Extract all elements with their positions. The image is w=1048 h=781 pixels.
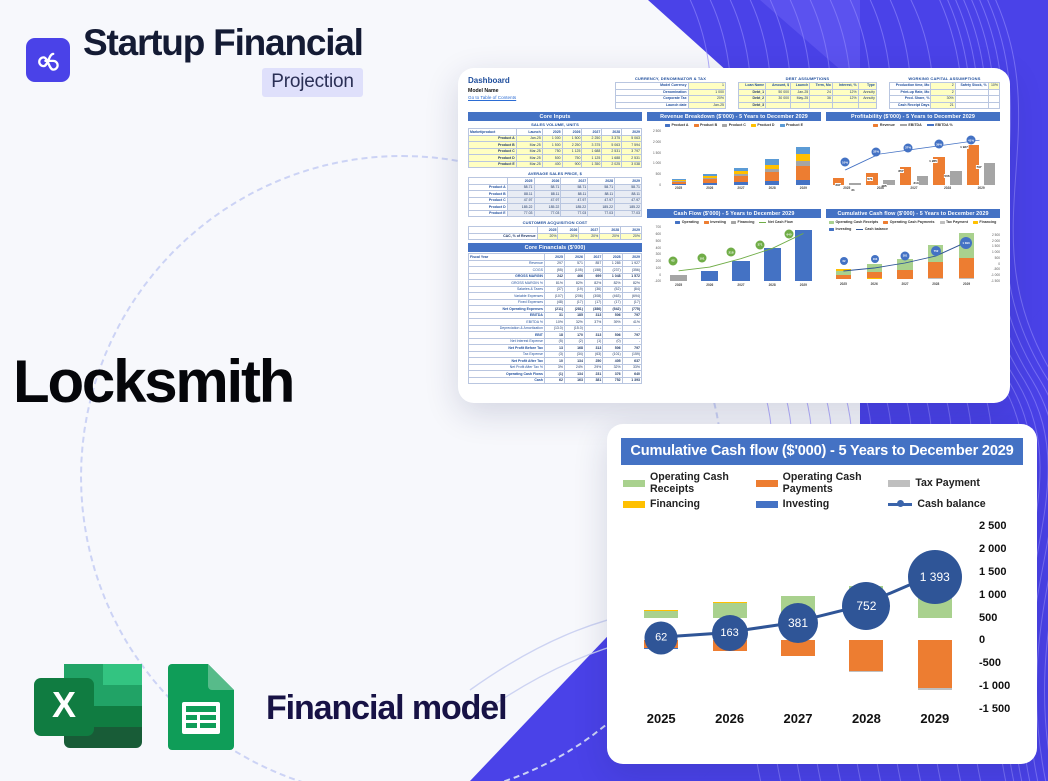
legend-item-tax-payment[interactable]: Tax Payment: [888, 471, 1021, 495]
google-sheets-icon: [164, 660, 238, 757]
y-tick-label: -1 500: [979, 703, 1010, 715]
row-label: Cash: [469, 377, 545, 384]
sales-volume-table: Market/product Launch 2025 2026 2027 202…: [468, 128, 642, 168]
cell: 77.03: [588, 210, 615, 217]
legend-line-marker: [888, 503, 912, 506]
cumulative-cash-flow-card[interactable]: Cumulative Cash flow ($'000) - 5 Years t…: [607, 424, 1037, 764]
cell: Launch date: [615, 102, 688, 109]
data-point: 62: [840, 257, 848, 265]
data-point: 37%: [904, 143, 913, 152]
x-axis: 2025 2026 2027 2028 2029: [663, 186, 819, 195]
data-point-label: 381: [778, 603, 818, 643]
cell: 2 025: [602, 161, 622, 168]
bar: [734, 129, 748, 185]
legend-item: Product B: [694, 123, 718, 127]
y-tick-label: 0: [979, 634, 985, 646]
microsoft-excel-icon: X: [30, 660, 146, 757]
legend-item: Investing: [829, 227, 851, 231]
dashboard-column-charts-2: Profitability ($'000) - 5 Years to Decem…: [826, 112, 1000, 384]
legend-item-operating-cash-receipts[interactable]: Operating Cash Receipts: [623, 471, 756, 495]
legend-swatch: [888, 480, 910, 487]
debt-panel-table: Loan Name Amount, $ Launch Term, Mo Inte…: [738, 82, 877, 109]
chart-legend: Operating Cash Receipts Operating Cash P…: [621, 471, 1023, 510]
data-point: 41%: [967, 136, 976, 145]
cac-title: CUSTOMER ACQUISITION COST: [468, 219, 642, 226]
dashboard-title: Dashboard: [468, 76, 607, 86]
cell: Product E: [469, 210, 508, 217]
legend-item: Operating Cash Payments: [883, 220, 934, 224]
avg-price-title: AVERAGE SALES PRICE, $: [468, 170, 642, 177]
data-point-label: 1 393: [908, 550, 962, 604]
cumulative-mini-title: Cumulative Cash flow ($'000) - 5 Years t…: [826, 209, 1000, 218]
core-inputs-bar: Core Inputs: [468, 112, 642, 121]
cell: 900: [562, 161, 582, 168]
data-point: 62: [669, 256, 678, 265]
bar-label: 1 285: [929, 159, 938, 163]
data-point: 39%: [935, 140, 944, 149]
data-point-label: 62: [645, 621, 678, 654]
cell: 20%: [537, 233, 558, 240]
cell: 77.03: [615, 210, 642, 217]
legend-item: Cash balance: [856, 227, 888, 231]
legend-item: Product E: [780, 123, 803, 127]
cell: [810, 102, 833, 109]
cell: 752: [603, 377, 622, 384]
y-axis: 700 600 500 400 300 200 100 0 -100: [647, 226, 662, 282]
legend-item: Operating Cash Receipts: [829, 220, 878, 224]
cell: Mar-25: [516, 161, 542, 168]
x-tick-label: 2026: [695, 711, 763, 731]
cash-flow-chart: Operating Investing Financing Net Cash F…: [647, 218, 821, 306]
brand-lockup: Startup Financial Projection: [26, 24, 363, 97]
bar-label: 857: [898, 169, 904, 173]
legend-item-financing[interactable]: Financing: [623, 498, 756, 510]
cell: 21: [931, 102, 955, 109]
data-point: 218: [727, 248, 736, 257]
infinity-logo-icon: [26, 38, 70, 82]
x-axis: 2025 2026 2027 2028 2029: [663, 283, 819, 292]
cash-flow-title: Cash Flow ($'000) - 5 Years to December …: [647, 209, 821, 218]
table-row: Cash621633817521 393: [469, 377, 642, 384]
cell: [832, 102, 858, 109]
bar: [796, 129, 810, 185]
legend-item: Investing: [704, 220, 726, 224]
cell: 20%: [558, 233, 579, 240]
footer-label: Financial model: [266, 689, 506, 728]
chart-plot-area: 2 5002 0001 5001 0005000-500-1 000-1 500…: [621, 526, 1023, 731]
cell: 381: [584, 377, 602, 384]
cell: Jan-25: [688, 102, 725, 109]
cell: 77.03: [534, 210, 561, 217]
page-title: Locksmith: [13, 352, 293, 412]
y-axis: 2 500 2 000 1 500 1 000 500 0 -500 -1 00…: [984, 233, 1000, 281]
data-point: 1 393: [960, 237, 972, 249]
legend-swatch: [756, 501, 778, 508]
cell: 20%: [579, 233, 600, 240]
bar: [703, 129, 717, 185]
legend-item: EBITDA: [900, 123, 922, 127]
dashboard-column-charts-1: Revenue Breakdown ($'000) - 5 Years to D…: [647, 112, 821, 384]
legend-item-operating-cash-payments[interactable]: Operating Cash Payments: [756, 471, 889, 495]
cell: Safety Stock, %: [955, 83, 988, 90]
excel-dashboard: Dashboard Model Name Go to Table of Cont…: [458, 68, 1010, 403]
brand-title: Startup Financial: [83, 24, 363, 62]
legend-swatch: [756, 480, 778, 487]
data-point: 101: [698, 254, 707, 263]
cell: Product E: [469, 161, 517, 168]
revenue-breakdown-chart: Product A Product B Product C Product D …: [647, 121, 821, 209]
y-tick-label: 2 000: [979, 543, 1007, 555]
legend-item: Product A: [665, 123, 689, 127]
y-tick-label: 1 500: [979, 566, 1007, 578]
cell: 1 350: [582, 161, 602, 168]
legend-item: Net Cash Flow: [759, 220, 792, 224]
cell: 163: [564, 377, 584, 384]
legend-item-investing[interactable]: Investing: [756, 498, 889, 510]
y-tick-label: 500: [979, 612, 997, 624]
model-name-label: Model Name: [468, 88, 607, 94]
data-point-label: 163: [712, 615, 748, 651]
footer-formats: X Financial model: [30, 660, 506, 757]
profitability-title: Profitability ($'000) - 5 Years to Decem…: [826, 112, 1000, 121]
bar: [765, 129, 779, 185]
x-tick-label: 2025: [627, 711, 695, 731]
cell: 20%: [621, 233, 642, 240]
toc-link[interactable]: Go to Table of Contents: [468, 95, 607, 100]
data-point: 32%: [872, 147, 881, 156]
cell: 400: [542, 161, 562, 168]
bar-label: 797: [976, 165, 982, 169]
cell: Cash Receipt Days: [889, 102, 931, 109]
bar-label: 571: [867, 177, 873, 181]
cell: [791, 102, 810, 109]
core-financials-bar: Core Financials ($'000): [468, 243, 642, 252]
data-point: 640: [785, 230, 794, 239]
avg-price-table: 2025 2026 2027 2028 2029 Product A58.715…: [468, 177, 642, 217]
cell: 62: [544, 377, 564, 384]
y-axis: 2 5002 0001 5001 0005000-500-1 000-1 500: [971, 526, 1023, 709]
bar-label: 506: [944, 174, 950, 178]
chart-title: Cumulative Cash flow ($'000) - 5 Years t…: [621, 438, 1023, 465]
y-tick-label: 2 500: [979, 520, 1007, 532]
poster-canvas: Startup Financial Projection Locksmith X: [0, 0, 1048, 781]
x-axis: 20252026202720282029: [627, 711, 969, 731]
bar-label: 1 927: [960, 145, 969, 149]
cell: CAC, % of Revenue: [469, 233, 538, 240]
legend-swatch: [623, 480, 645, 487]
y-tick-label: -1 000: [979, 680, 1010, 692]
bar-group: [663, 129, 819, 185]
data-point: 381: [901, 252, 910, 261]
x-axis: 2025 2026 2027 2028 2029: [830, 186, 998, 195]
legend-item: Financing: [731, 220, 754, 224]
cell: Production time, Mo: [889, 83, 931, 90]
brand-subtitle: Projection: [262, 68, 363, 97]
y-axis: 2 500 2 000 1 500 1 000 500 0: [647, 129, 662, 185]
cell: 20%: [600, 233, 621, 240]
revenue-breakdown-title: Revenue Breakdown ($'000) - 5 Years to D…: [647, 112, 821, 121]
legend-item: Tax Payment: [940, 220, 968, 224]
dashboard-column-inputs: Core Inputs SALES VOLUME, UNITS Market/p…: [468, 112, 642, 384]
cell: [858, 102, 876, 109]
bar-label: 313: [913, 181, 919, 185]
cell: 77.03: [561, 210, 588, 217]
net-cash-flow-line: [663, 226, 819, 282]
data-point: 163: [871, 255, 879, 263]
bar: [672, 129, 686, 185]
cac-table: 2025 2026 2027 2028 2029 CAC, % of Reven…: [468, 226, 642, 240]
x-tick-label: 2029: [901, 711, 969, 731]
core-financials-table: Fiscal Year 2025 2026 2027 2028 2029 Rev…: [468, 253, 642, 384]
x-tick-label: 2027: [764, 711, 832, 731]
debt-panel-title: DEBT ASSUMPTIONS: [738, 76, 877, 81]
data-point: 752: [931, 246, 941, 256]
legend-item: Product D: [751, 123, 775, 127]
svg-text:X: X: [52, 684, 76, 725]
legend-swatch: [623, 501, 645, 508]
x-tick-label: 2028: [832, 711, 900, 731]
y-tick-label: 1 000: [979, 589, 1007, 601]
cell: 3 038: [622, 161, 642, 168]
legend-item: Financing: [973, 220, 996, 224]
cell: Debt_3: [739, 102, 766, 109]
y-tick-label: -500: [979, 657, 1001, 669]
cell: 1 393: [622, 377, 641, 384]
cumulative-cash-flow-mini-chart: Operating Cash Receipts Operating Cash P…: [826, 218, 1000, 306]
legend-item: Revenue: [873, 123, 894, 127]
cell: [766, 102, 791, 109]
legend-item: EBITDA %: [927, 123, 953, 127]
profitability-chart: Revenue EBITDA EBITDA %: [826, 121, 1000, 209]
legend-item: Operating: [675, 220, 698, 224]
wc-panel-title: WORKING CAPITAL ASSUMPTIONS: [889, 76, 1000, 81]
wc-panel-table: Production time, Mo2 Safety Stock, %10% …: [889, 82, 1000, 109]
sales-volume-title: SALES VOLUME, UNITS: [468, 121, 642, 128]
data-point: 10%: [841, 158, 850, 167]
legend-item-cash-balance[interactable]: Cash balance: [888, 498, 1021, 510]
legend-item: Product C: [722, 123, 746, 127]
dashboard-screenshot-card[interactable]: Dashboard Model Name Go to Table of Cont…: [458, 68, 1010, 403]
cell: 77.03: [507, 210, 534, 217]
data-point-label: 752: [842, 582, 890, 630]
data-point: 371: [756, 240, 765, 249]
x-axis: 2025 2026 2027 2028 2029: [828, 282, 982, 291]
currency-panel-title: CURRENCY, DENOMINATOR & TAX: [615, 76, 726, 81]
currency-panel-table: Model Currency1 Denomination1 000 Corpor…: [615, 82, 726, 109]
